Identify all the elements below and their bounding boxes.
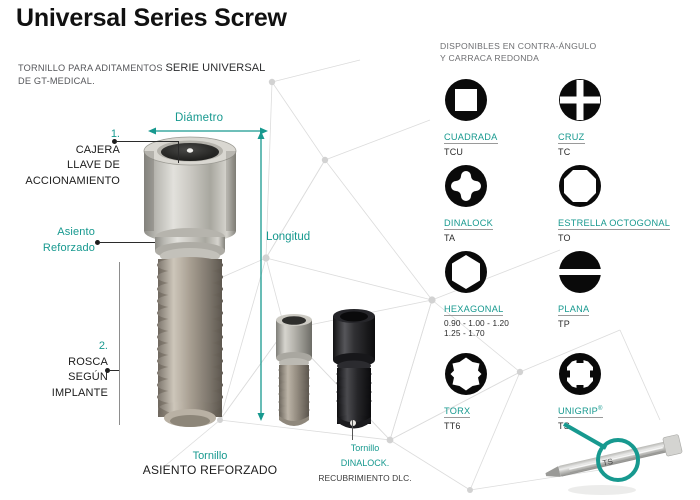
caption-main-screw: Tornillo ASIENTO REFORZADO bbox=[120, 448, 300, 477]
caption-main-bottom: ASIENTO REFORZADO bbox=[143, 463, 278, 477]
callout-3-number: 2. bbox=[99, 340, 108, 352]
caption-dark-bottom: RECUBRIMIENTO DLC. bbox=[318, 473, 411, 483]
trademark-symbol: ® bbox=[598, 406, 603, 412]
callout-3-line-2: SEGÚN bbox=[68, 371, 108, 383]
square-socket-icon bbox=[444, 78, 488, 122]
driver-cell-torx[interactable]: TORX TT6 bbox=[444, 352, 488, 431]
driver-cell-plana[interactable]: PLANA TP bbox=[558, 250, 602, 329]
driver-code: TC bbox=[558, 147, 602, 157]
driver-cell-cruz[interactable]: CRUZ TC bbox=[558, 78, 602, 157]
driver-name: CRUZ bbox=[558, 132, 585, 144]
driver-code: TCU bbox=[444, 147, 498, 157]
callout-cajera: 1. CAJERA LLAVE DE ACCIONAMIENTO bbox=[10, 126, 120, 188]
driver-cell-cuadrada[interactable]: CUADRADA TCU bbox=[444, 78, 498, 157]
thread-range-bracket bbox=[119, 262, 120, 425]
infographic-page: Universal Series Screw TORNILLO PARA ADI… bbox=[0, 0, 700, 500]
right-panel-header: DISPONIBLES EN CONTRA-ÁNGULO Y CARRACA R… bbox=[440, 40, 690, 64]
caption-dark-leader-line bbox=[352, 420, 353, 440]
driver-cell-hexagonal[interactable]: HEXAGONAL 0.90 - 1.00 - 1.20 1.25 - 1.70 bbox=[444, 250, 509, 338]
hexagon-socket-icon bbox=[444, 250, 488, 294]
diameter-label: Diámetro bbox=[175, 112, 223, 124]
length-label: Longitud bbox=[266, 231, 310, 243]
callout-1-leader-line bbox=[116, 141, 178, 142]
callout-1-line-3: ACCIONAMIENTO bbox=[25, 175, 120, 187]
unigrip-socket-icon bbox=[558, 352, 602, 396]
slot-socket-icon bbox=[558, 250, 602, 294]
driver-sizes: 0.90 - 1.00 - 1.20 1.25 - 1.70 bbox=[444, 318, 509, 338]
tool-pointer-line bbox=[564, 424, 606, 448]
callout-3-line-3: IMPLANTE bbox=[52, 387, 108, 399]
caption-dark-mid: DINALOCK. bbox=[341, 458, 390, 468]
caption-dark-screw: Tornillo DINALOCK. RECUBRIMIENTO DLC. bbox=[300, 440, 430, 485]
callout-2-line-1: Asiento bbox=[57, 226, 95, 238]
callout-2-line-2: Reforzado bbox=[43, 242, 95, 254]
length-arrow-icon bbox=[256, 131, 266, 421]
callout-1-line-1: CAJERA bbox=[76, 144, 120, 156]
callout-1-leader-drop bbox=[178, 141, 179, 163]
driver-name: DINALOCK bbox=[444, 218, 493, 230]
callout-asiento: Asiento Reforzado bbox=[10, 224, 95, 255]
driver-tool-illustration: TS bbox=[540, 418, 700, 496]
page-title: Universal Series Screw bbox=[16, 4, 287, 33]
driver-name: TORX bbox=[444, 406, 470, 418]
cross-socket-icon bbox=[558, 78, 602, 122]
subtitle-series-name: SERIE UNIVERSAL bbox=[165, 62, 265, 74]
subtitle-block: TORNILLO PARA ADITAMENTOS SERIE UNIVERSA… bbox=[18, 62, 278, 88]
caption-dark-top: Tornillo bbox=[351, 443, 380, 453]
driver-code: TO bbox=[558, 233, 670, 243]
small-black-screw-illustration bbox=[322, 304, 386, 434]
driver-code: TP bbox=[558, 319, 602, 329]
diameter-arrow-icon bbox=[148, 126, 268, 136]
driver-code: TT6 bbox=[444, 421, 488, 431]
callout-rosca: 2. ROSCA SEGÚN IMPLANTE bbox=[8, 338, 108, 400]
callout-3-line-1: ROSCA bbox=[68, 356, 108, 368]
subtitle-line-2: DE GT-MEDICAL. bbox=[18, 76, 95, 86]
caption-main-top: Tornillo bbox=[193, 450, 228, 462]
driver-name: HEXAGONAL bbox=[444, 304, 503, 316]
callout-1-line-2: LLAVE DE bbox=[67, 159, 120, 171]
right-header-line-1: DISPONIBLES EN CONTRA-ÁNGULO bbox=[440, 41, 596, 51]
driver-cell-dinalock[interactable]: DINALOCK TA bbox=[444, 164, 493, 243]
subtitle-line-1: TORNILLO PARA ADITAMENTOS bbox=[18, 63, 163, 73]
tool-marking-text: TS bbox=[602, 457, 614, 468]
driver-name: UNIGRIP® bbox=[558, 406, 603, 418]
small-silver-screw-illustration bbox=[266, 308, 326, 433]
driver-name: CUADRADA bbox=[444, 132, 498, 144]
driver-code: TA bbox=[444, 233, 493, 243]
dinalock-socket-icon bbox=[444, 164, 488, 208]
driver-name-text: UNIGRIP bbox=[558, 406, 598, 416]
driver-name: PLANA bbox=[558, 304, 589, 316]
callout-2-leader-line bbox=[99, 242, 155, 243]
octagon-socket-icon bbox=[558, 164, 602, 208]
right-header-line-2: Y CARRACA REDONDA bbox=[440, 53, 539, 63]
torx-socket-icon bbox=[444, 352, 488, 396]
driver-name: ESTRELLA OCTOGONAL bbox=[558, 218, 670, 230]
callout-3-leader-line bbox=[109, 370, 119, 371]
driver-cell-estrella-octogonal[interactable]: ESTRELLA OCTOGONAL TO bbox=[558, 164, 670, 243]
